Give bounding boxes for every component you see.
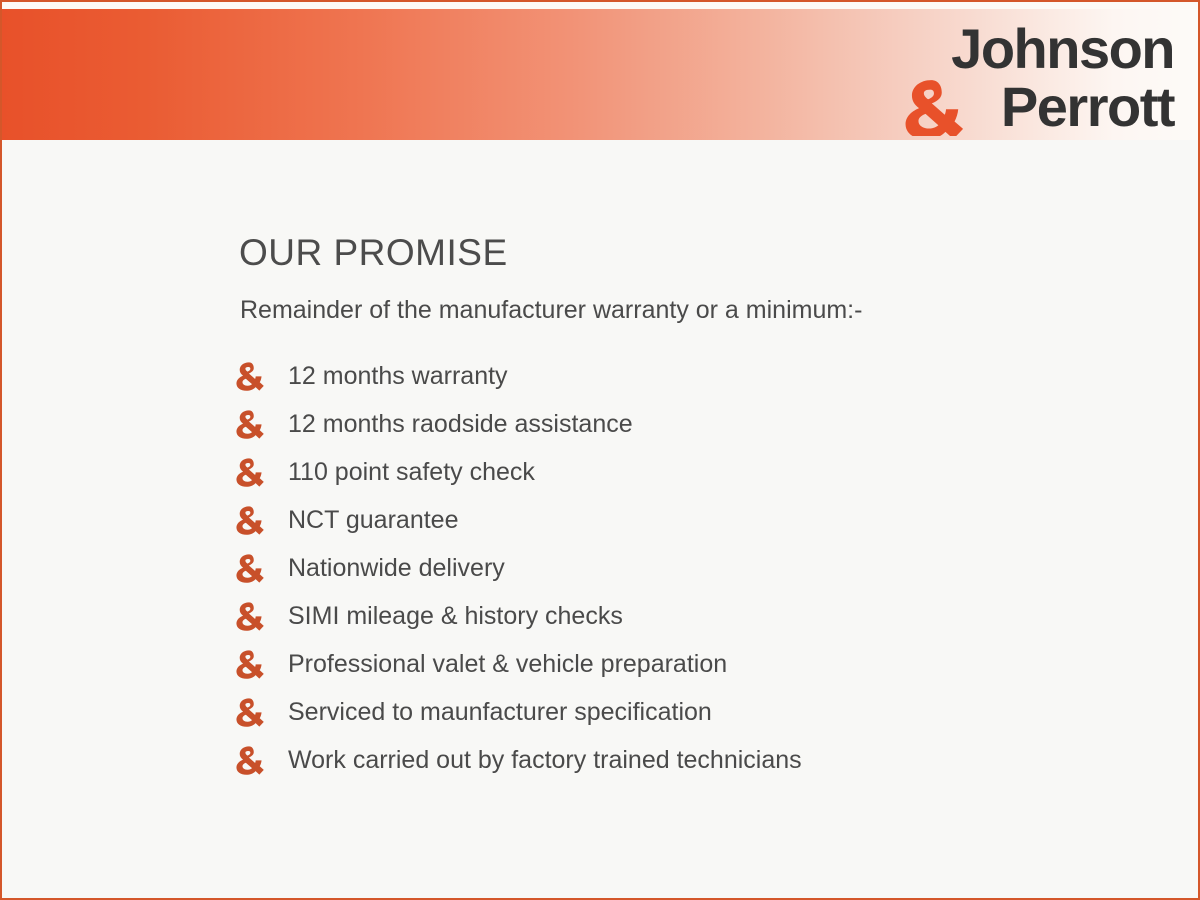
svg-text:Johnson: Johnson [951,17,1174,80]
subtitle: Remainder of the manufacturer warranty o… [240,298,862,323]
ampersand-icon [234,408,266,442]
list-item: NCT guarantee [234,496,802,544]
page-title: OUR PROMISE [239,234,508,271]
ampersand-icon [234,744,266,778]
list-item: 12 months warranty [234,352,802,400]
top-strip [2,2,1198,9]
list-item-label: SIMI mileage & history checks [288,604,623,629]
list-item-label: 12 months raodside assistance [288,412,633,437]
list-item-label: Serviced to maunfacturer specification [288,700,712,725]
johnson-and-perrott-logo: Johnson Perrott [896,16,1176,136]
list-item: 110 point safety check [234,448,802,496]
ampersand-icon [234,648,266,682]
list-item: 12 months raodside assistance [234,400,802,448]
content-area: OUR PROMISE Remainder of the manufacture… [2,140,1198,898]
ampersand-icon [234,456,266,490]
list-item-label: Work carried out by factory trained tech… [288,748,802,773]
list-item: Professional valet & vehicle preparation [234,640,802,688]
ampersand-icon [234,504,266,538]
list-item-label: Professional valet & vehicle preparation [288,652,727,677]
list-item: Nationwide delivery [234,544,802,592]
list-item: SIMI mileage & history checks [234,592,802,640]
list-item: Work carried out by factory trained tech… [234,736,802,784]
list-item-label: 12 months warranty [288,364,508,389]
svg-text:Perrott: Perrott [1001,75,1175,136]
ampersand-icon [234,696,266,730]
ampersand-icon [234,552,266,586]
list-item-label: NCT guarantee [288,508,458,533]
promise-poster: Johnson Perrott OUR PROMISE Remainder of… [0,0,1200,900]
list-item-label: 110 point safety check [288,460,535,485]
promise-list: 12 months warranty 12 months raodside as… [234,352,802,784]
list-item: Serviced to maunfacturer specification [234,688,802,736]
ampersand-icon [234,360,266,394]
ampersand-icon [234,600,266,634]
list-item-label: Nationwide delivery [288,556,505,581]
